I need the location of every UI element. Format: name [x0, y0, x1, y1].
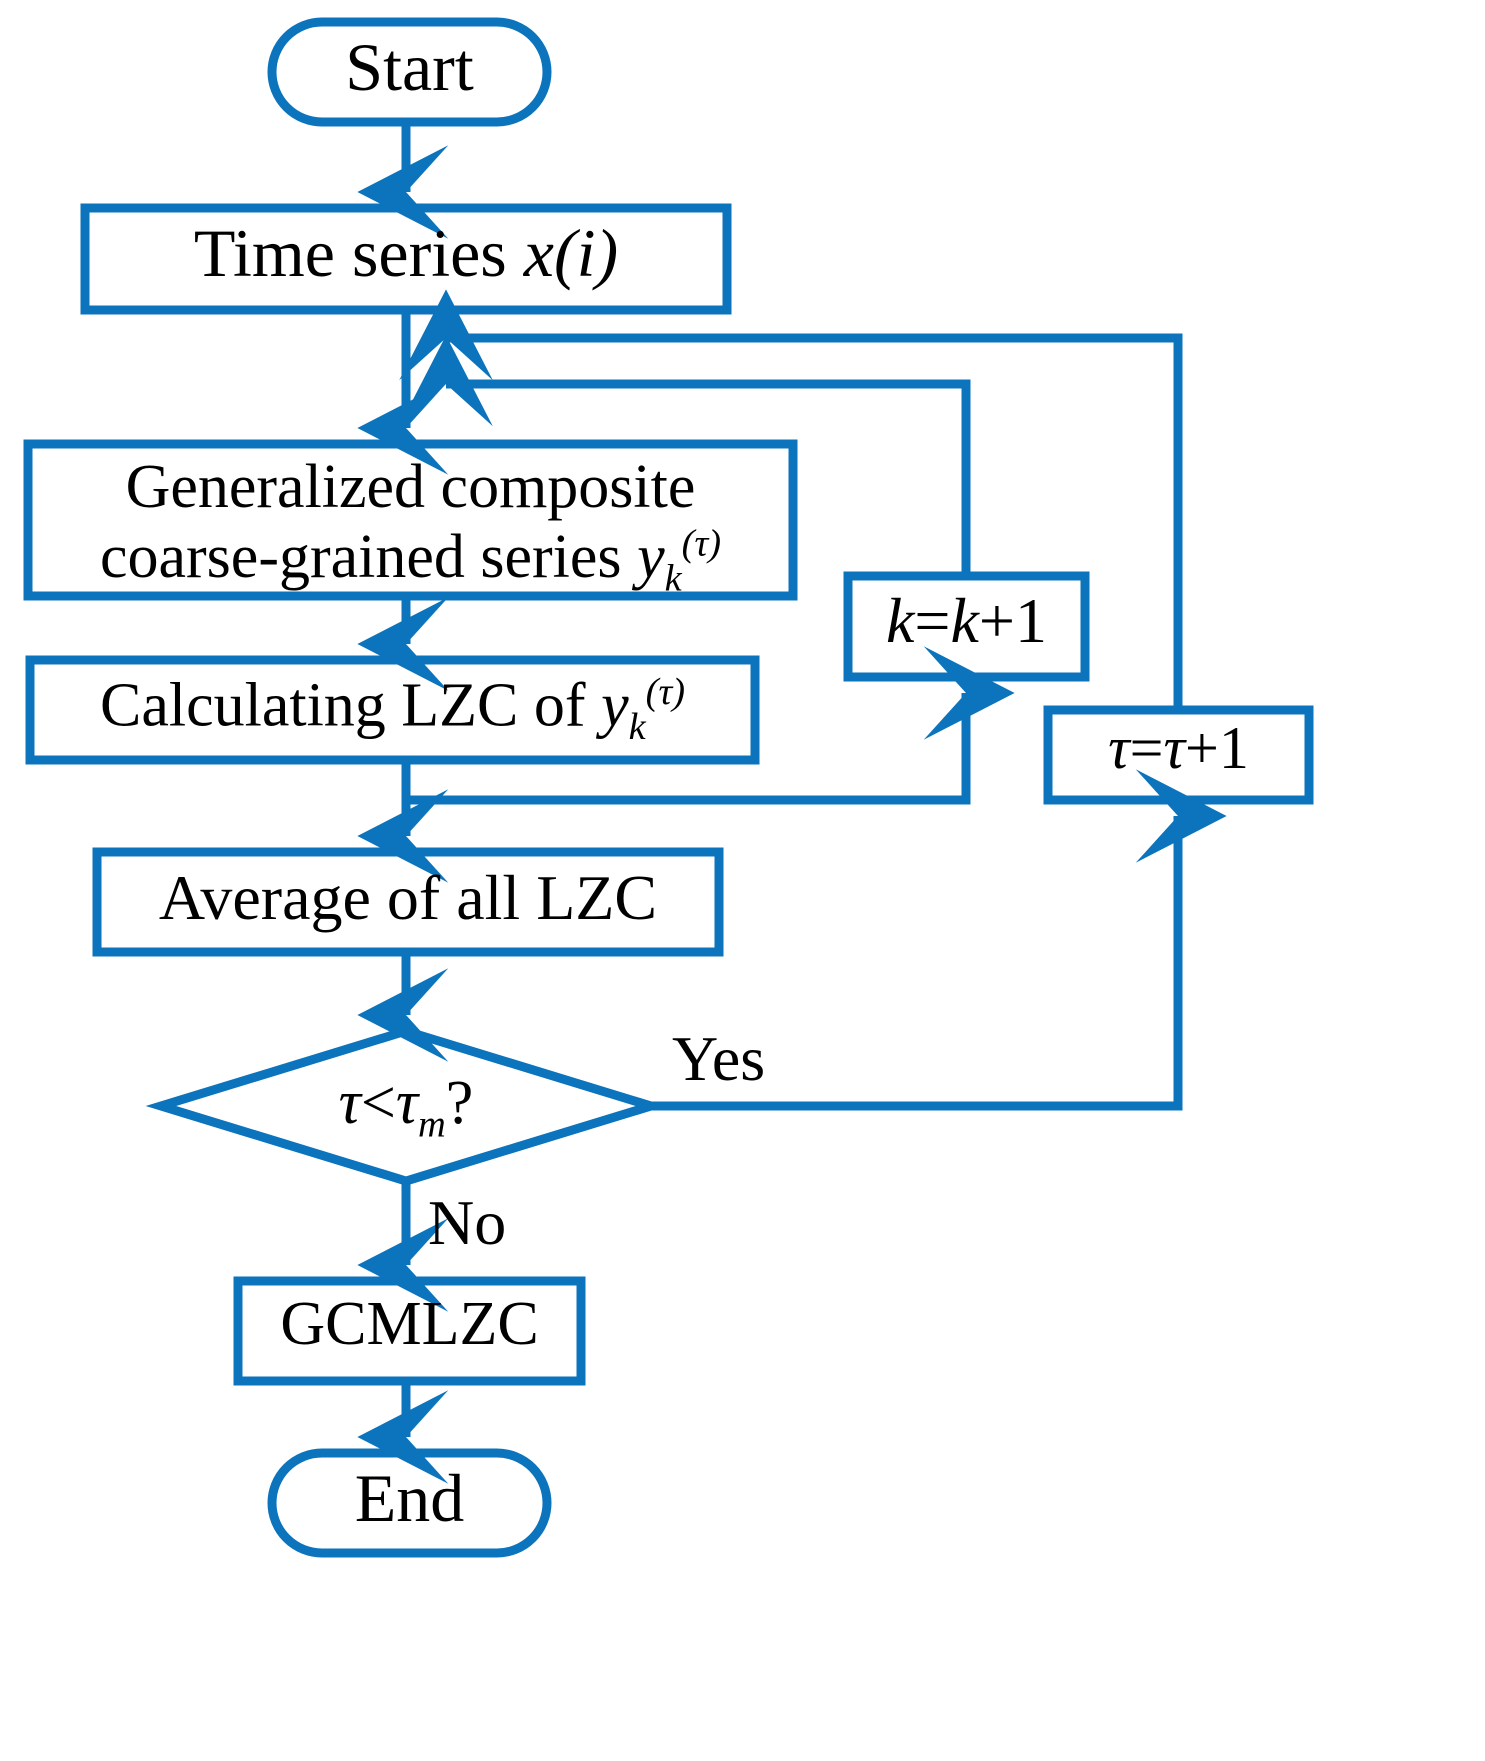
node-decision-shape: [161, 1031, 651, 1181]
node-calc-lzc-shape: [30, 660, 755, 760]
edge-tau-increment-to-merge: [446, 338, 1178, 710]
node-coarse-grained-shape: [28, 444, 793, 596]
edge-calc-to-k-increment: [406, 693, 966, 800]
node-k-increment-shape: [848, 576, 1085, 677]
edge-k-increment-to-merge: [446, 384, 966, 576]
node-tau-increment-shape: [1048, 710, 1309, 800]
node-time-series-shape: [85, 208, 727, 310]
node-start-shape: [272, 22, 547, 122]
flowchart-canvas: Start Time series x(i) Generalized compo…: [0, 0, 1485, 1761]
edge-label-no: No: [428, 1186, 506, 1260]
node-gcmlzc-shape: [238, 1281, 581, 1381]
flowchart-graphics: [0, 0, 1485, 1761]
edge-label-yes: Yes: [672, 1022, 765, 1096]
node-end-shape: [272, 1453, 547, 1553]
node-average-shape: [97, 852, 719, 952]
